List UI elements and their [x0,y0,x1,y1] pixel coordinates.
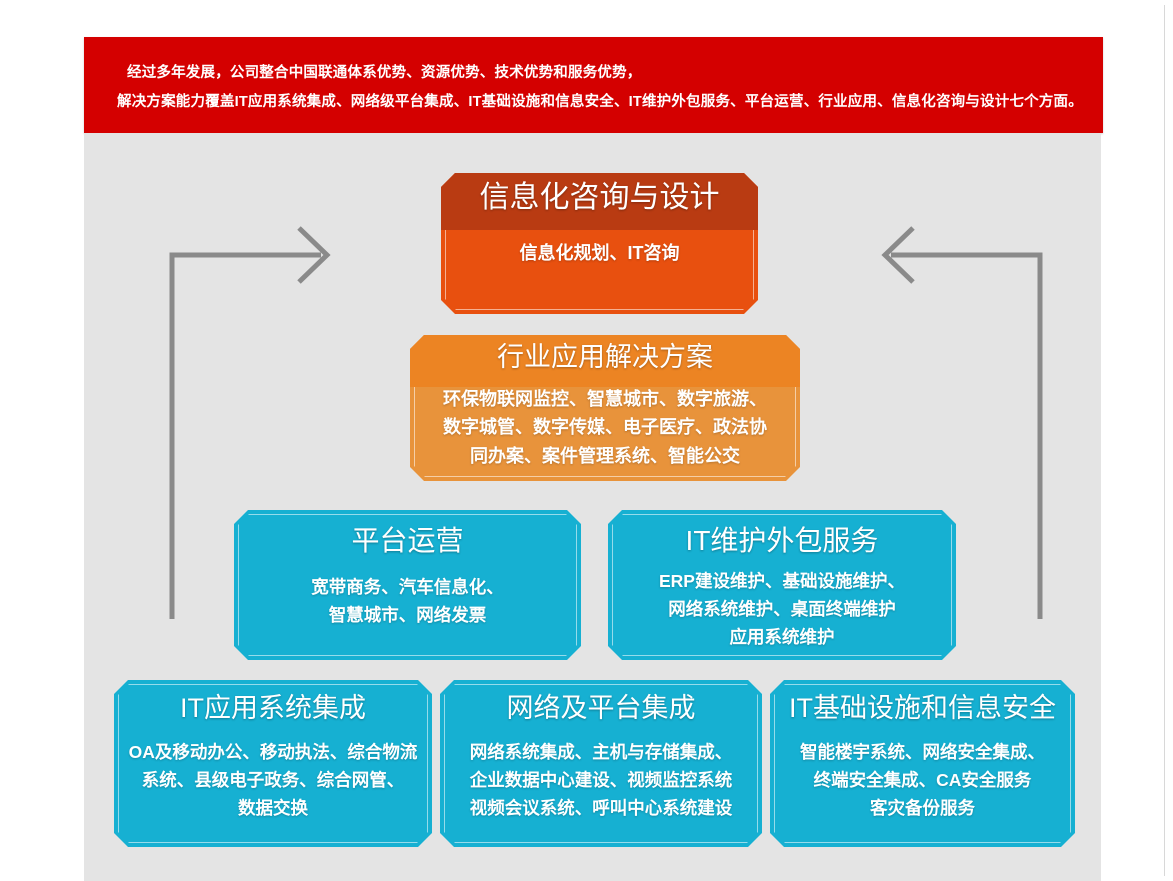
diagram-stage: 信息化咨询与设计 信息化规划、IT咨询 行业应用解决方案 环保物联网监控、智慧城… [84,133,1101,881]
card-network-platform-integration-body: 网络系统集成、主机与存储集成、 企业数据中心建设、视频监控系统 视频会议系统、呼… [440,738,762,823]
card-body-line: 应用系统维护 [608,623,956,651]
card-body-line: 智慧城市、网络发票 [234,601,581,629]
card-infrastructure-security-body: 智能楼宇系统、网络安全集成、 终端安全集成、CA安全服务 客灾备份服务 [770,738,1075,823]
card-body-line: 终端安全集成、CA安全服务 [770,766,1075,794]
card-body-line: 系统、县级电子政务、综合网管、 [114,766,432,794]
card-consulting-body: 信息化规划、IT咨询 [441,240,758,268]
card-body-line: 数据交换 [114,794,432,822]
intro-banner-line-1: 经过多年发展，公司整合中国联通体系优势、资源优势、技术优势和服务优势， [127,61,642,82]
card-body-line: 数字城管、数字传媒、电子医疗、政法协 [410,413,800,442]
card-industry[interactable]: 行业应用解决方案 环保物联网监控、智慧城市、数字旅游、 数字城管、数字传媒、电子… [410,335,800,481]
card-body-line: 视频会议系统、呼叫中心系统建设 [440,794,762,822]
card-it-maintenance-title: IT维护外包服务 [608,526,956,557]
card-it-maintenance-body: ERP建设维护、基础设施维护、 网络系统维护、桌面终端维护 应用系统维护 [608,567,956,651]
card-body-line: 网络系统集成、主机与存储集成、 [440,738,762,766]
card-app-system-integration-body: OA及移动办公、移动执法、综合物流 系统、县级电子政务、综合网管、 数据交换 [114,738,432,823]
card-infrastructure-security-title: IT基础设施和信息安全 [770,694,1075,724]
card-network-platform-integration[interactable]: 网络及平台集成 网络系统集成、主机与存储集成、 企业数据中心建设、视频监控系统 … [440,680,762,847]
card-body-line: 智能楼宇系统、网络安全集成、 [770,738,1075,766]
card-consulting[interactable]: 信息化咨询与设计 信息化规划、IT咨询 [441,173,758,314]
card-body-line: 宽带商务、汽车信息化、 [234,573,581,601]
slide-page: 经过多年发展，公司整合中国联通体系优势、资源优势、技术优势和服务优势， 解决方案… [5,5,1165,876]
card-app-system-integration[interactable]: IT应用系统集成 OA及移动办公、移动执法、综合物流 系统、县级电子政务、综合网… [114,680,432,847]
card-industry-title: 行业应用解决方案 [410,343,800,373]
card-body-line: 企业数据中心建设、视频监控系统 [440,766,762,794]
card-platform-operation-title: 平台运营 [234,526,581,557]
card-body-line: OA及移动办公、移动执法、综合物流 [114,738,432,766]
card-app-system-integration-title: IT应用系统集成 [114,694,432,724]
card-infrastructure-security[interactable]: IT基础设施和信息安全 智能楼宇系统、网络安全集成、 终端安全集成、CA安全服务… [770,680,1075,847]
intro-banner: 经过多年发展，公司整合中国联通体系优势、资源优势、技术优势和服务优势， 解决方案… [84,37,1103,133]
intro-banner-line-2: 解决方案能力覆盖IT应用系统集成、网络级平台集成、IT基础设施和信息安全、IT维… [117,90,1083,111]
card-body-line: 网络系统维护、桌面终端维护 [608,595,956,623]
card-industry-body: 环保物联网监控、智慧城市、数字旅游、 数字城管、数字传媒、电子医疗、政法协 同办… [410,385,800,471]
card-body-line: 环保物联网监控、智慧城市、数字旅游、 [410,385,800,414]
card-body-line: 同办案、案件管理系统、智能公交 [410,442,800,471]
card-body-line: 客灾备份服务 [770,794,1075,822]
card-platform-operation-body: 宽带商务、汽车信息化、 智慧城市、网络发票 [234,573,581,629]
card-it-maintenance[interactable]: IT维护外包服务 ERP建设维护、基础设施维护、 网络系统维护、桌面终端维护 应… [608,510,956,660]
card-body-line: ERP建设维护、基础设施维护、 [608,567,956,595]
card-platform-operation[interactable]: 平台运营 宽带商务、汽车信息化、 智慧城市、网络发票 [234,510,581,660]
card-network-platform-integration-title: 网络及平台集成 [440,694,762,724]
card-consulting-title: 信息化咨询与设计 [441,181,758,214]
